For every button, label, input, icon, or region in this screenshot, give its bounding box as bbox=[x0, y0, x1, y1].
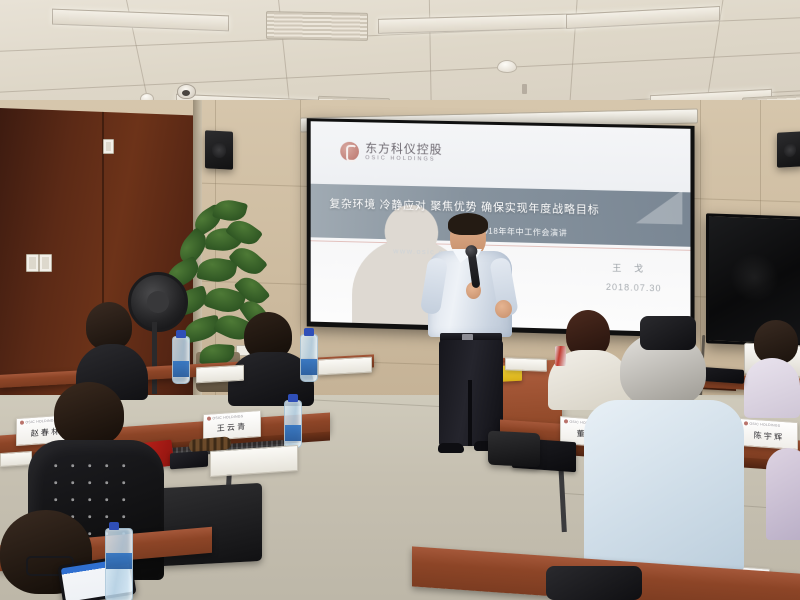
ceiling-light-3 bbox=[566, 6, 720, 29]
light-switch-upper[interactable] bbox=[103, 139, 114, 154]
presenter-shoe-left bbox=[438, 443, 464, 453]
water-bottle-back-1 bbox=[172, 336, 190, 384]
notebook-cover-dark bbox=[170, 451, 208, 470]
chair-back-right bbox=[488, 431, 540, 468]
pedestal-fan bbox=[128, 272, 188, 332]
ceiling-light-1 bbox=[52, 9, 229, 32]
wall-speaker-left bbox=[205, 130, 233, 169]
notebook-back-2 bbox=[318, 357, 372, 376]
ceiling-light-2 bbox=[378, 13, 584, 34]
water-bottle-front bbox=[105, 528, 133, 600]
air-diffuser-1 bbox=[266, 11, 368, 41]
paper-sheet-left bbox=[0, 451, 32, 467]
placard-logo-1: OSIC HOLDINGS bbox=[20, 418, 56, 425]
slide-logo: 东方科仪控股 OSIC HOLDINGS bbox=[341, 142, 443, 163]
water-bottle-back-2 bbox=[300, 334, 318, 382]
fan-pole bbox=[152, 322, 157, 394]
placard-name-4: 陈宇辉 bbox=[754, 429, 785, 442]
conference-room-photo: 东方科仪控股 OSIC HOLDINGS 复杂环境 冷静应对 聚焦优势 确保实现… bbox=[0, 0, 800, 600]
smoke-detector-icon bbox=[497, 60, 517, 73]
placard-logo-text-4: OSIC HOLDINGS bbox=[750, 422, 781, 428]
wall-speaker-right bbox=[777, 131, 800, 167]
placard-logo-4: OSIC HOLDINGS bbox=[744, 421, 780, 428]
osic-logo-mark-icon bbox=[564, 419, 568, 423]
document-on-lectern bbox=[505, 357, 547, 371]
sprinkler-head-icon bbox=[522, 84, 527, 94]
light-switch-right[interactable] bbox=[39, 254, 52, 272]
name-placard-2: OSIC HOLDINGS 王云青 bbox=[203, 410, 261, 441]
presenter-hair bbox=[448, 213, 488, 235]
slide-speaker-name: 王 戈 bbox=[612, 261, 648, 275]
placard-name-2: 王云青 bbox=[217, 421, 248, 434]
presenter-hand-gesture bbox=[495, 300, 512, 318]
slide-date: 2018.07.30 bbox=[606, 281, 662, 293]
placard-logo-2: OSIC HOLDINGS bbox=[207, 414, 243, 421]
light-switch-left[interactable] bbox=[26, 254, 39, 272]
name-placard-4: OSIC HOLDINGS 陈宇辉 bbox=[740, 418, 798, 450]
bag-under-desk bbox=[640, 316, 696, 350]
placard-logo-text-2: OSIC HOLDINGS bbox=[213, 414, 244, 420]
osic-logo-mark-icon bbox=[207, 416, 211, 420]
water-bottle-mid-1 bbox=[284, 400, 302, 448]
slide-logo-en: OSIC HOLDINGS bbox=[365, 155, 442, 163]
osic-logo-mark-icon bbox=[744, 421, 748, 425]
placard-logo-text-1: OSIC HOLDINGS bbox=[26, 418, 57, 424]
jacket-on-chair bbox=[546, 566, 642, 600]
small-drink-can bbox=[555, 346, 566, 366]
osic-logo-mark-icon bbox=[341, 142, 360, 161]
osic-logo-mark-icon bbox=[20, 421, 24, 425]
notebook-back-1 bbox=[196, 365, 244, 384]
security-camera-icon bbox=[177, 84, 196, 99]
